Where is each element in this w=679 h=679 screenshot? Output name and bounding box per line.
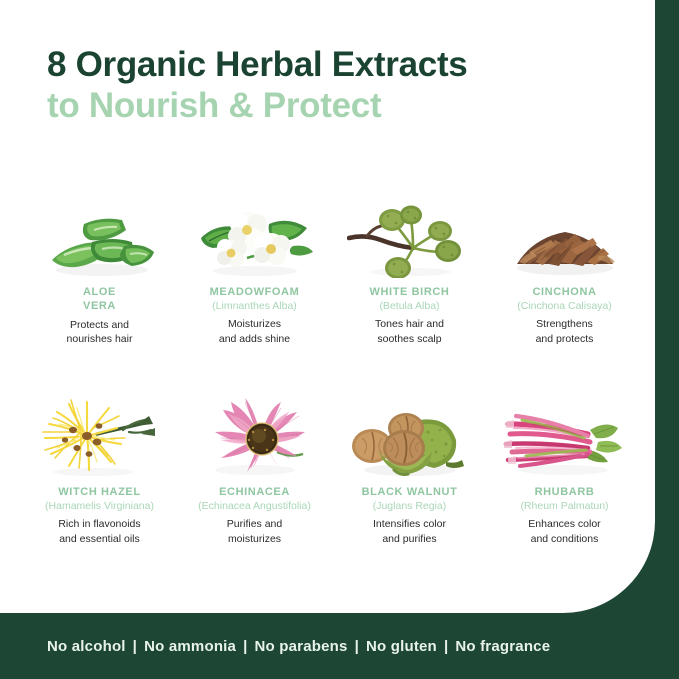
echinacea-pink-flower-icon — [187, 390, 323, 478]
herb-name: CINCHONA — [532, 286, 596, 300]
herb-card-witch-hazel: WITCH HAZEL (Hamamelis Virginiana) Rich … — [22, 390, 177, 590]
herb-card-cinchona: CINCHONA (Cinchona Calisaya) Strengthens… — [487, 190, 642, 390]
banner-claims: No alcohol|No ammonia|No parabens|No glu… — [0, 638, 550, 655]
herb-description: Rich in flavonoids and essential oils — [58, 517, 140, 547]
herb-card-black-walnut: BLACK WALNUT (Juglans Regia) Intensifies… — [332, 390, 487, 590]
herb-card-rhubarb: RHUBARB (Rheum Palmatun) Enhances color … — [487, 390, 642, 590]
herb-name: WITCH HAZEL — [58, 486, 140, 500]
herb-latin-name: (Hamamelis Virginiana) — [45, 500, 154, 514]
herb-description: Strengthens and protects — [536, 317, 594, 347]
claim-item: No parabens — [255, 638, 348, 655]
herb-description: Intensifies color and purifies — [373, 517, 446, 547]
herb-name-line2: VERA — [83, 300, 116, 312]
herb-description: Protects and nourishes hair — [67, 318, 133, 348]
meadowfoam-white-flower-icon — [187, 190, 323, 278]
white-birch-branch-icon — [342, 190, 478, 278]
herb-name-line1: ALOE — [83, 286, 116, 298]
herb-latin-name: (Rheum Palmatun) — [520, 500, 608, 514]
claim-item: No fragrance — [455, 638, 550, 655]
herb-latin-name: (Juglans Regia) — [373, 500, 447, 514]
claim-separator: | — [437, 638, 455, 655]
herb-card-aloe-vera: ALOE VERA Protects and nourishes hair — [22, 190, 177, 390]
herb-card-white-birch: WHITE BIRCH (Betula Alba) Tones hair and… — [332, 190, 487, 390]
page-title: 8 Organic Herbal Extracts — [47, 44, 679, 85]
header: 8 Organic Herbal Extracts to Nourish & P… — [0, 0, 679, 127]
herb-card-meadowfoam: MEADOWFOAM (Limnanthes Alba) Moisturizes… — [177, 190, 332, 390]
claim-separator: | — [236, 638, 254, 655]
herb-description: Enhances color and conditions — [528, 517, 600, 547]
claim-item: No ammonia — [144, 638, 236, 655]
black-walnut-nuts-icon — [342, 390, 478, 478]
cinchona-bark-icon — [497, 190, 633, 278]
free-from-banner: No alcohol|No ammonia|No parabens|No glu… — [0, 613, 679, 679]
claim-separator: | — [126, 638, 144, 655]
herb-latin-name: (Echinacea Angustifolia) — [198, 500, 311, 514]
herb-description: Purifies and moisturizes — [227, 517, 282, 547]
claim-item: No gluten — [366, 638, 437, 655]
herb-name: RHUBARB — [535, 486, 595, 500]
herb-description: Moisturizes and adds shine — [219, 317, 290, 347]
herb-name: ALOE VERA — [83, 286, 116, 314]
witch-hazel-yellow-flower-icon — [32, 390, 168, 478]
aloe-vera-leaves-icon — [32, 190, 168, 278]
herb-name: WHITE BIRCH — [370, 286, 450, 300]
rhubarb-stalks-icon — [497, 390, 633, 478]
herb-latin-name: (Cinchona Calisaya) — [517, 300, 612, 314]
herb-latin-name: (Betula Alba) — [379, 300, 439, 314]
herb-card-echinacea: ECHINACEA (Echinacea Angustifolia) Purif… — [177, 390, 332, 590]
herb-latin-name: (Limnanthes Alba) — [212, 300, 297, 314]
claim-item: No alcohol — [47, 638, 126, 655]
herb-name: BLACK WALNUT — [362, 486, 458, 500]
herb-grid: ALOE VERA Protects and nourishes hair — [22, 190, 642, 590]
herb-name: ECHINACEA — [219, 486, 290, 500]
herb-description: Tones hair and soothes scalp — [375, 317, 444, 347]
herb-name: MEADOWFOAM — [210, 286, 300, 300]
herbal-extracts-infographic: 8 Organic Herbal Extracts to Nourish & P… — [0, 0, 679, 679]
page-subtitle: to Nourish & Protect — [47, 85, 679, 126]
claim-separator: | — [348, 638, 366, 655]
